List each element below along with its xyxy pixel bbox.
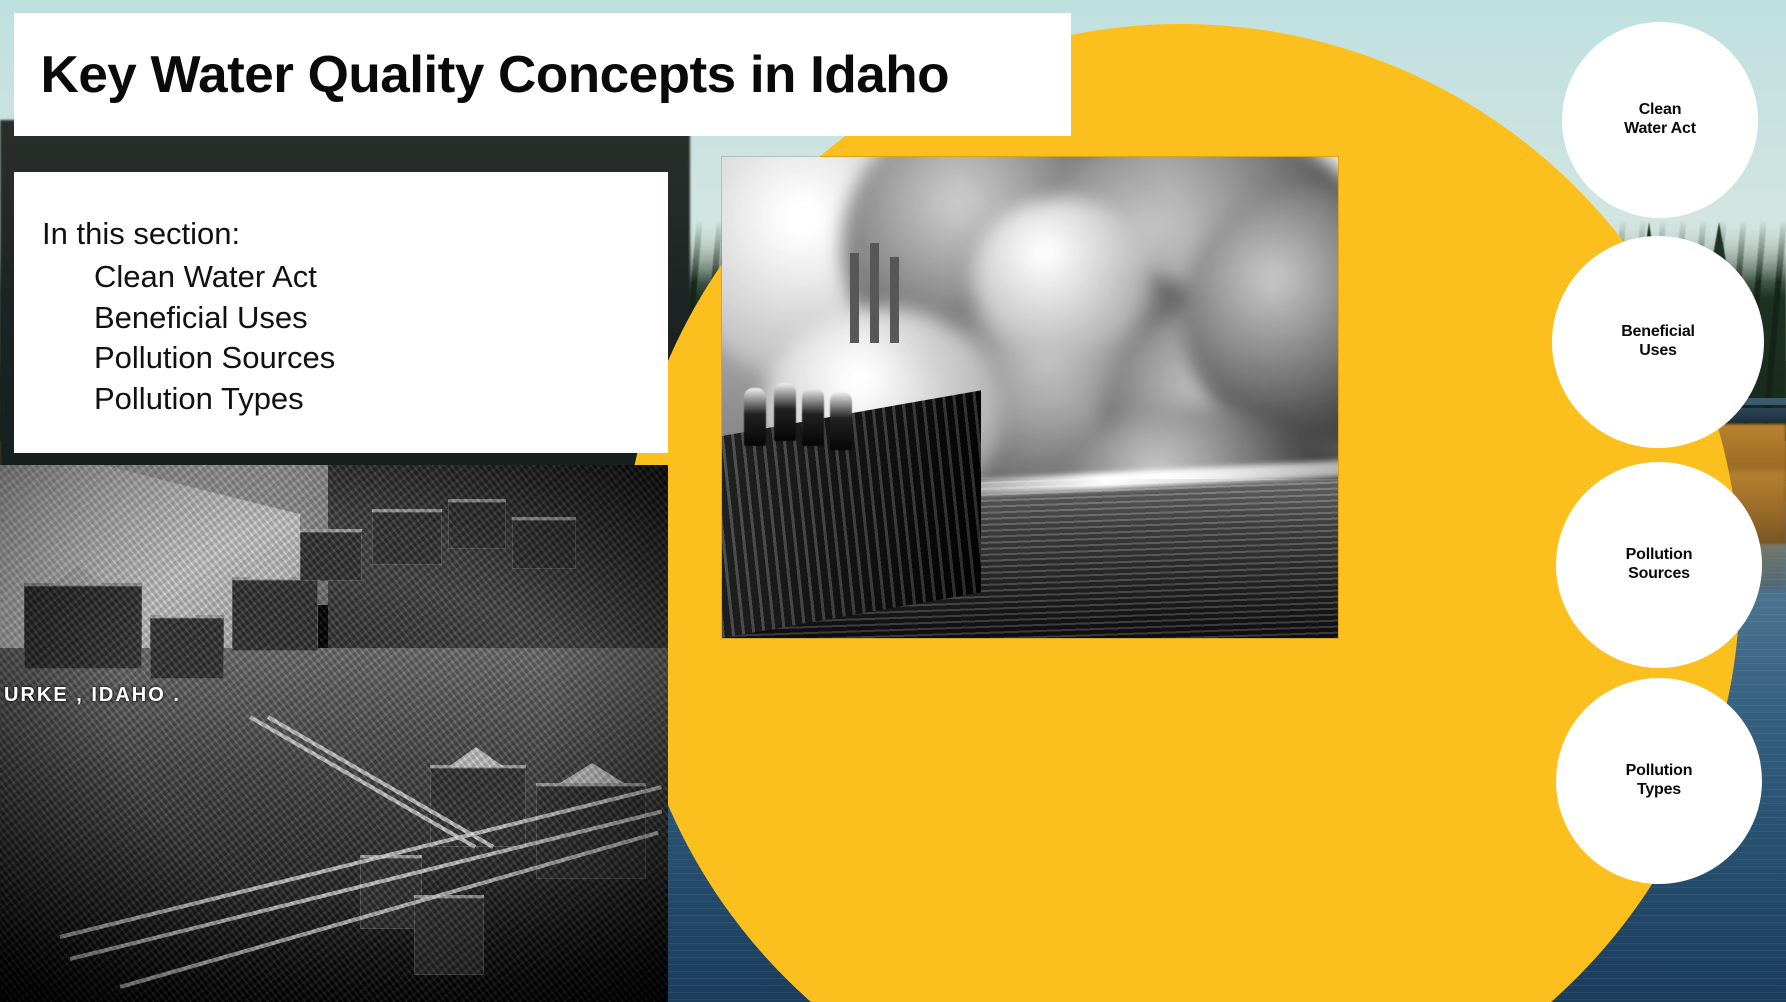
bubble-clean-water-act-line1: Clean — [1616, 101, 1704, 120]
section-item-beneficial-uses: Beneficial Uses — [42, 298, 668, 339]
title-bar: Key Water Quality Concepts in Idaho — [14, 13, 1071, 136]
bubble-clean-water-act[interactable]: Clean Water Act — [1562, 22, 1758, 218]
nav-bubble-column: Clean Water Act Beneficial Uses Pollutio… — [1330, 0, 1786, 1002]
bubble-pollution-sources-line2: Sources — [1618, 565, 1701, 584]
bubble-beneficial-uses-line1: Beneficial — [1613, 323, 1703, 342]
bubble-beneficial-uses-line2: Uses — [1613, 342, 1703, 361]
photo-burning-river — [722, 157, 1338, 638]
section-item-pollution-sources: Pollution Sources — [42, 338, 668, 379]
bubble-pollution-types-line1: Pollution — [1618, 762, 1701, 781]
slide-canvas: URKE , IDAHO . Key Water Quality Concept… — [0, 0, 1786, 1002]
page-title: Key Water Quality Concepts in Idaho — [14, 45, 949, 105]
section-item-pollution-types: Pollution Types — [42, 379, 668, 420]
bubble-pollution-types[interactable]: Pollution Types — [1556, 678, 1762, 884]
section-item-clean-water-act: Clean Water Act — [42, 257, 668, 298]
bubble-pollution-sources-line1: Pollution — [1618, 546, 1701, 565]
section-item-list: Clean Water Act Beneficial Uses Pollutio… — [42, 257, 668, 419]
bubble-pollution-types-line2: Types — [1618, 781, 1701, 800]
burke-vignette — [0, 465, 668, 1002]
burke-caption: URKE , IDAHO . — [4, 684, 181, 707]
bubble-clean-water-act-line2: Water Act — [1616, 120, 1704, 139]
section-heading: In this section: — [42, 214, 668, 255]
in-this-section-panel: In this section: Clean Water Act Benefic… — [14, 172, 668, 453]
photo-burke-idaho: URKE , IDAHO . — [0, 465, 668, 1002]
bubble-pollution-sources[interactable]: Pollution Sources — [1556, 462, 1762, 668]
bubble-beneficial-uses[interactable]: Beneficial Uses — [1552, 236, 1764, 448]
